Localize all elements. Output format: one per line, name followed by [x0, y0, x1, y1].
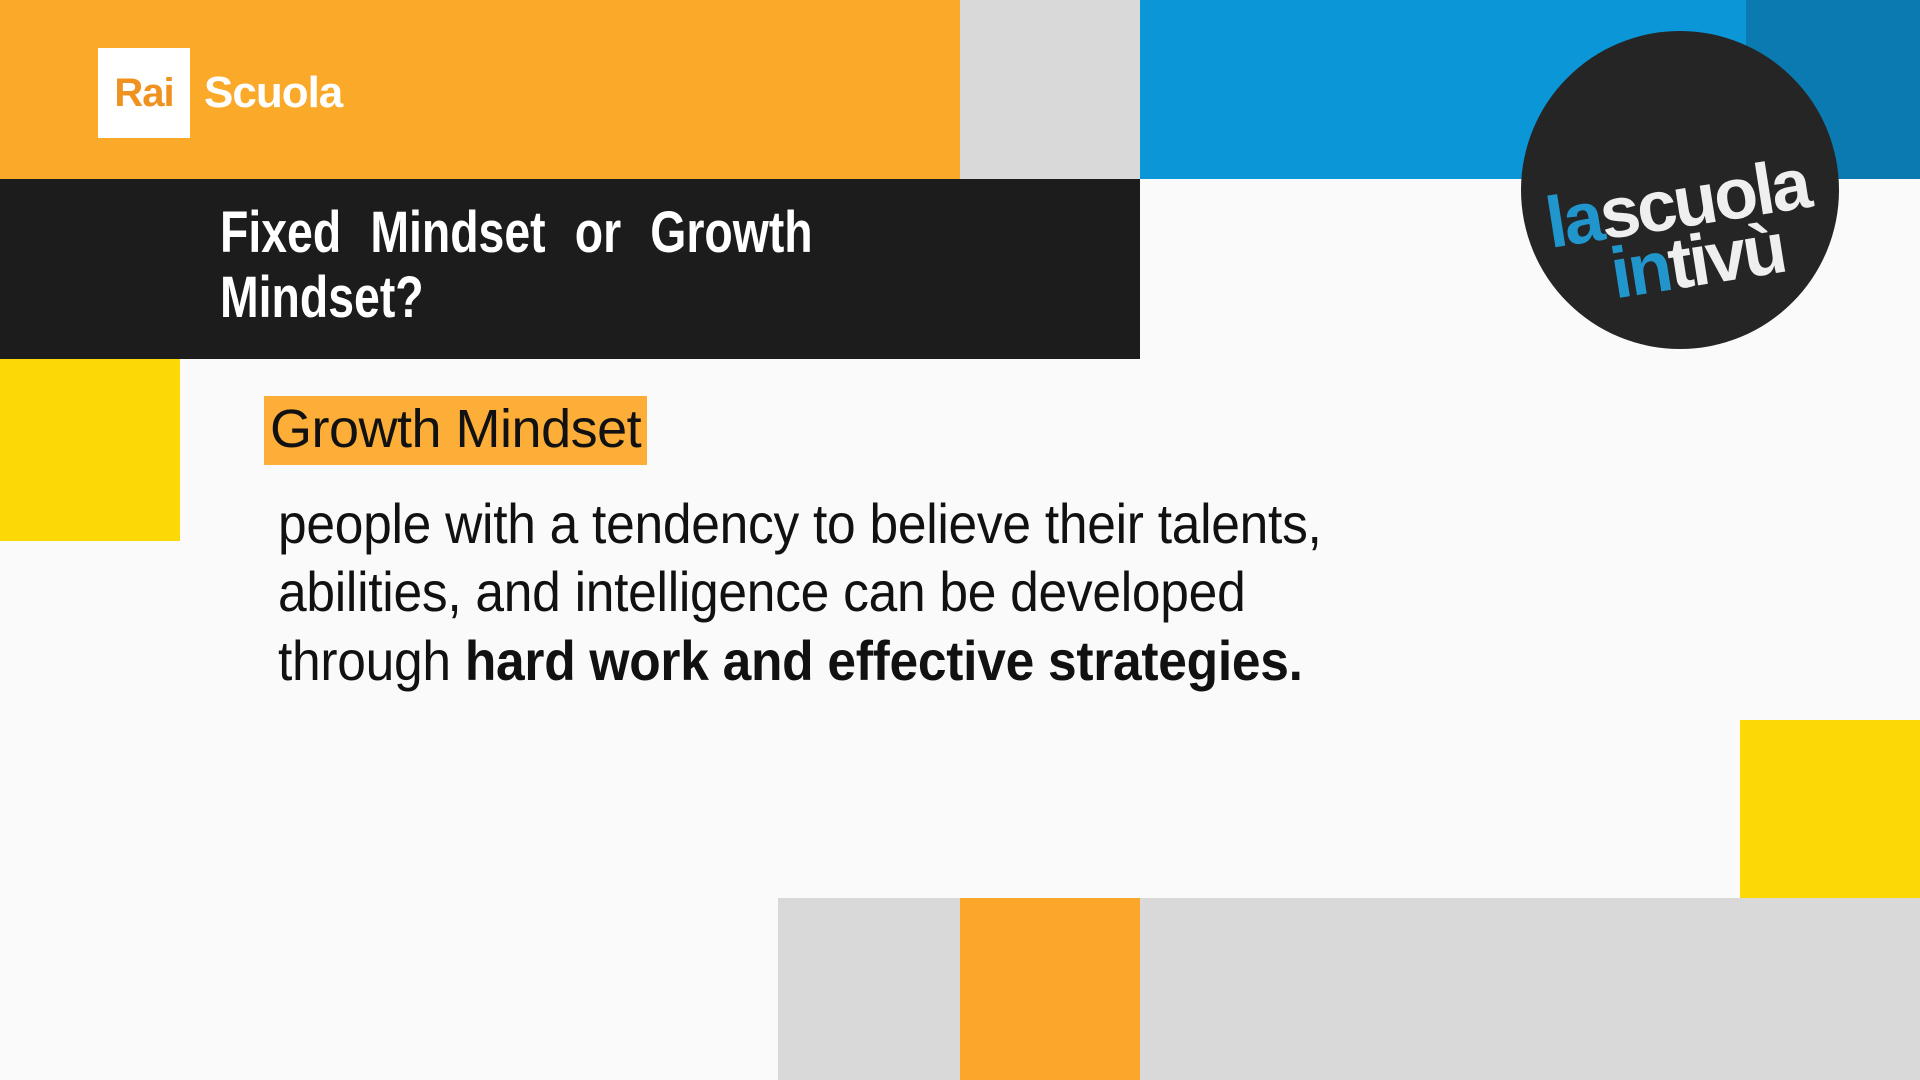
lascuola-in-tivu-badge: lascuola intivù: [1521, 31, 1839, 349]
definition-line-2: abilities, and intelligence can be devel…: [278, 558, 1584, 626]
term-definition: people with a tendency to believe their …: [278, 490, 1584, 695]
definition-line-3: through hard work and effective strategi…: [278, 627, 1584, 695]
term-highlight: Growth Mindset: [264, 396, 647, 465]
badge-inner: lascuola intivù: [1521, 31, 1839, 349]
badge-tivu-text: tivù: [1662, 208, 1789, 305]
slide-canvas: Rai Scuola Fixed Mindset or Growth Minds…: [0, 0, 1920, 1080]
definition-line-3-emphasis: hard work and effective strategies.: [465, 629, 1303, 692]
definition-line-1: people with a tendency to believe their …: [278, 490, 1584, 558]
definition-line-3-normal: through: [278, 629, 465, 692]
